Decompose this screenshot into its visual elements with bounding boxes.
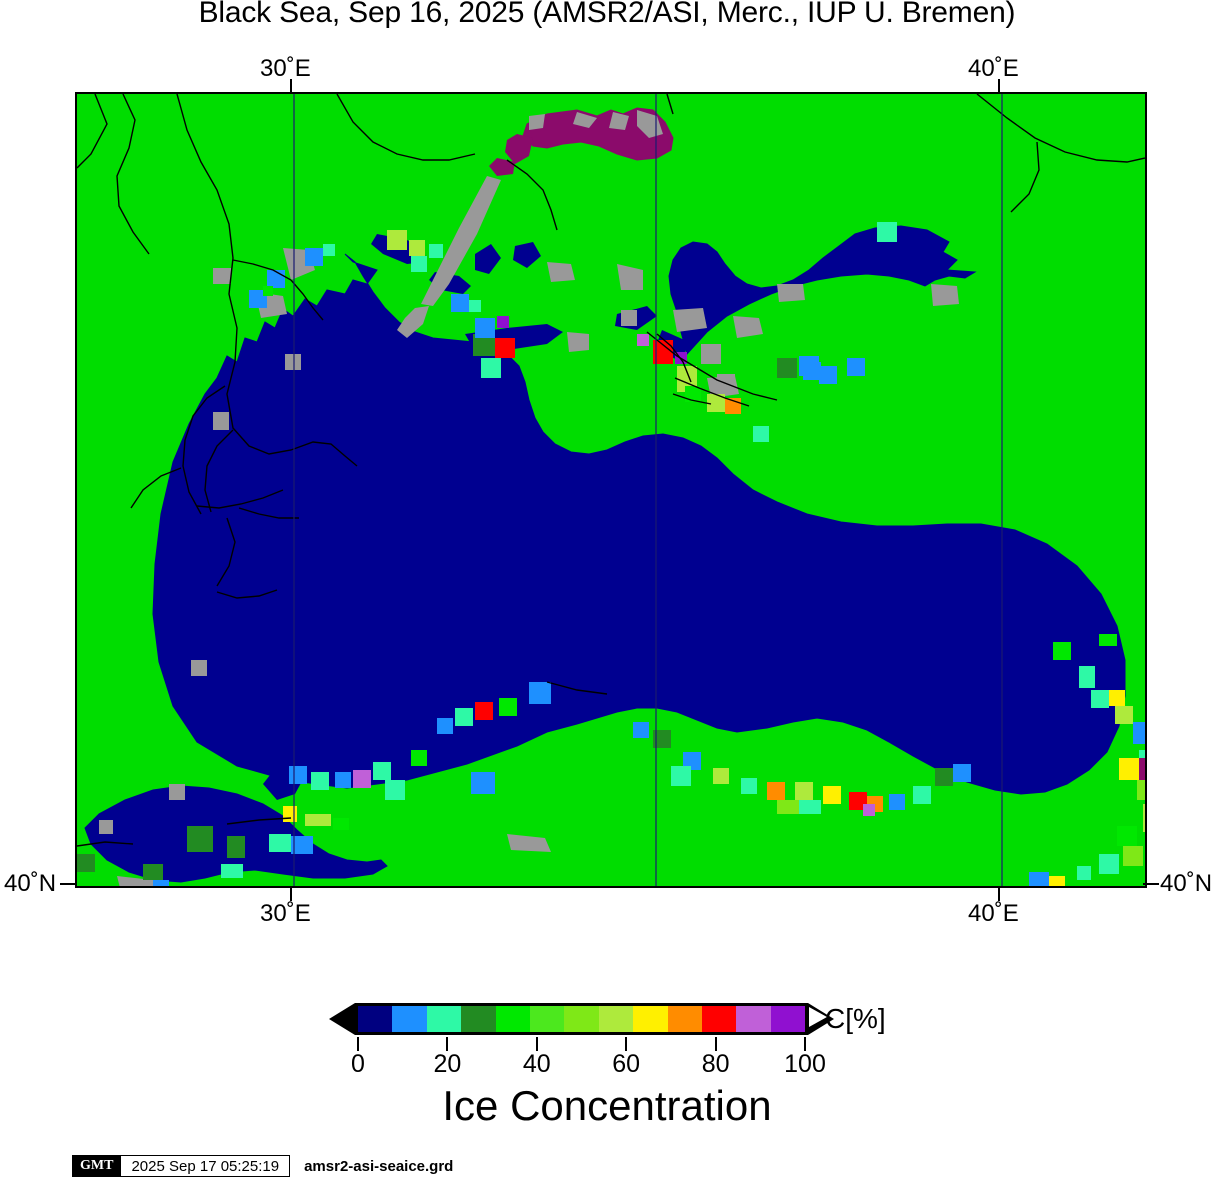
colorbar-tick-label-0: 0	[351, 1050, 365, 1079]
colorbar-tick-label-60: 60	[612, 1050, 640, 1079]
colorbar-swatch-85-90	[668, 1006, 702, 1032]
lat-tick-40n-left	[60, 883, 76, 885]
lat-tick-40n-right	[1143, 883, 1159, 885]
footer-filename: amsr2-asi-seaice.grd	[290, 1155, 453, 1177]
colorbar-swatch-0-10	[358, 1006, 392, 1032]
colorbar-swatch-40-50	[496, 1006, 530, 1032]
lat-label-40n-left: 40˚N	[4, 870, 56, 898]
colorbar-swatch-93-97	[736, 1006, 770, 1032]
lon-label-30e-bottom: 30˚E	[260, 900, 311, 928]
colorbar: C[%]	[330, 1001, 890, 1037]
colorbar-tick-0	[357, 1037, 359, 1051]
colorbar-swatches	[355, 1003, 808, 1035]
footer: GMT 2025 Sep 17 05:25:19 amsr2-asi-seaic…	[72, 1155, 453, 1177]
lon-label-40e-top: 40˚E	[968, 55, 1019, 83]
colorbar-tick-label-80: 80	[702, 1050, 730, 1079]
colorbar-swatch-30-40	[461, 1006, 495, 1032]
colorbar-tick-20	[446, 1037, 448, 1051]
colorbar-tick-labels: 020406080100	[330, 1050, 890, 1080]
colorbar-swatch-97-100	[771, 1006, 805, 1032]
gmt-logo-icon: GMT	[72, 1155, 121, 1177]
lon-tick-30e-bottom	[290, 886, 292, 901]
map-plot-area[interactable]	[75, 92, 1147, 888]
colorbar-swatch-50-60	[530, 1006, 564, 1032]
colorbar-tick-60	[625, 1037, 627, 1051]
sea-ice-concentration-map	[77, 94, 1145, 886]
colorbar-tick-label-40: 40	[523, 1050, 551, 1079]
colorbar-tick-label-100: 100	[784, 1050, 826, 1079]
footer-timestamp: 2025 Sep 17 05:25:19	[121, 1155, 290, 1177]
colorbar-swatch-90-93	[702, 1006, 736, 1032]
page-title: Black Sea, Sep 16, 2025 (AMSR2/ASI, Merc…	[0, 0, 1214, 30]
colorbar-swatch-70-80	[599, 1006, 633, 1032]
lon-label-40e-bottom: 40˚E	[968, 900, 1019, 928]
colorbar-swatch-10-20	[392, 1006, 426, 1032]
colorbar-tick-40	[536, 1037, 538, 1051]
lon-label-30e-top: 30˚E	[260, 55, 311, 83]
lon-tick-40e-bottom	[998, 886, 1000, 901]
colorbar-caption: Ice Concentration	[0, 1082, 1214, 1130]
colorbar-swatch-20-30	[427, 1006, 461, 1032]
colorbar-swatch-80-85	[633, 1006, 667, 1032]
colorbar-low-arrow	[329, 1003, 355, 1035]
colorbar-swatch-60-70	[564, 1006, 598, 1032]
colorbar-tick-80	[715, 1037, 717, 1051]
colorbar-unit-label: C[%]	[825, 1003, 886, 1035]
colorbar-tick-label-20: 20	[433, 1050, 461, 1079]
colorbar-tick-100	[804, 1037, 806, 1051]
lat-label-40n-right: 40˚N	[1160, 870, 1212, 898]
